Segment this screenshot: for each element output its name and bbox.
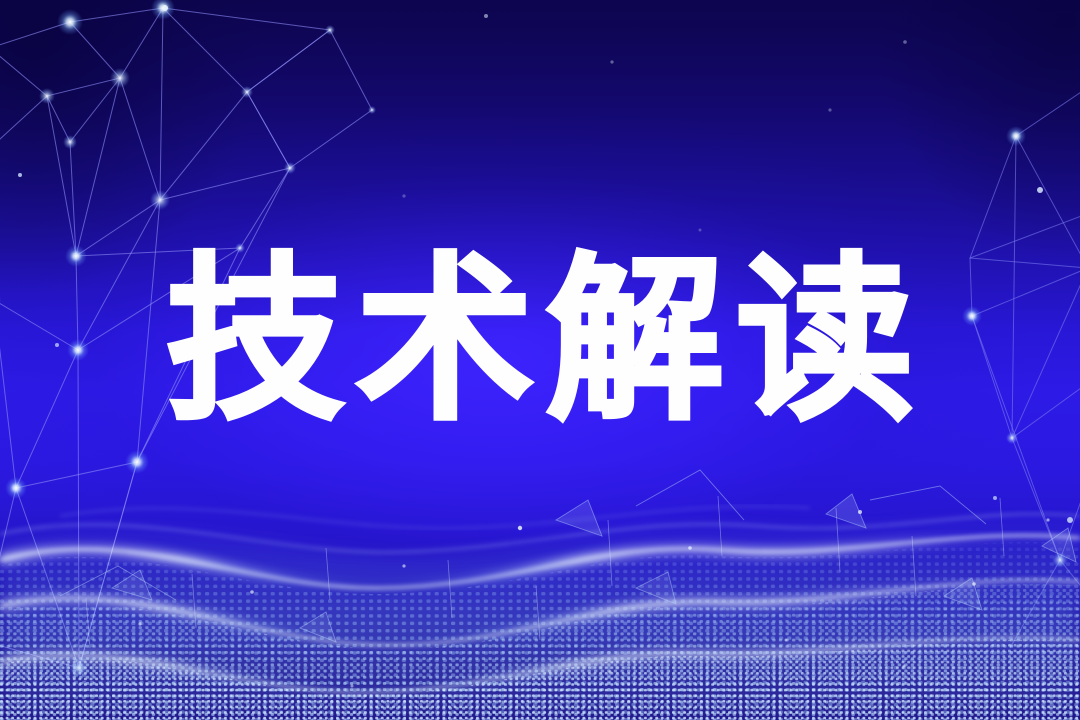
- particle-wave-mesh: [0, 0, 1080, 720]
- banner-canvas: 技术解读: [0, 0, 1080, 720]
